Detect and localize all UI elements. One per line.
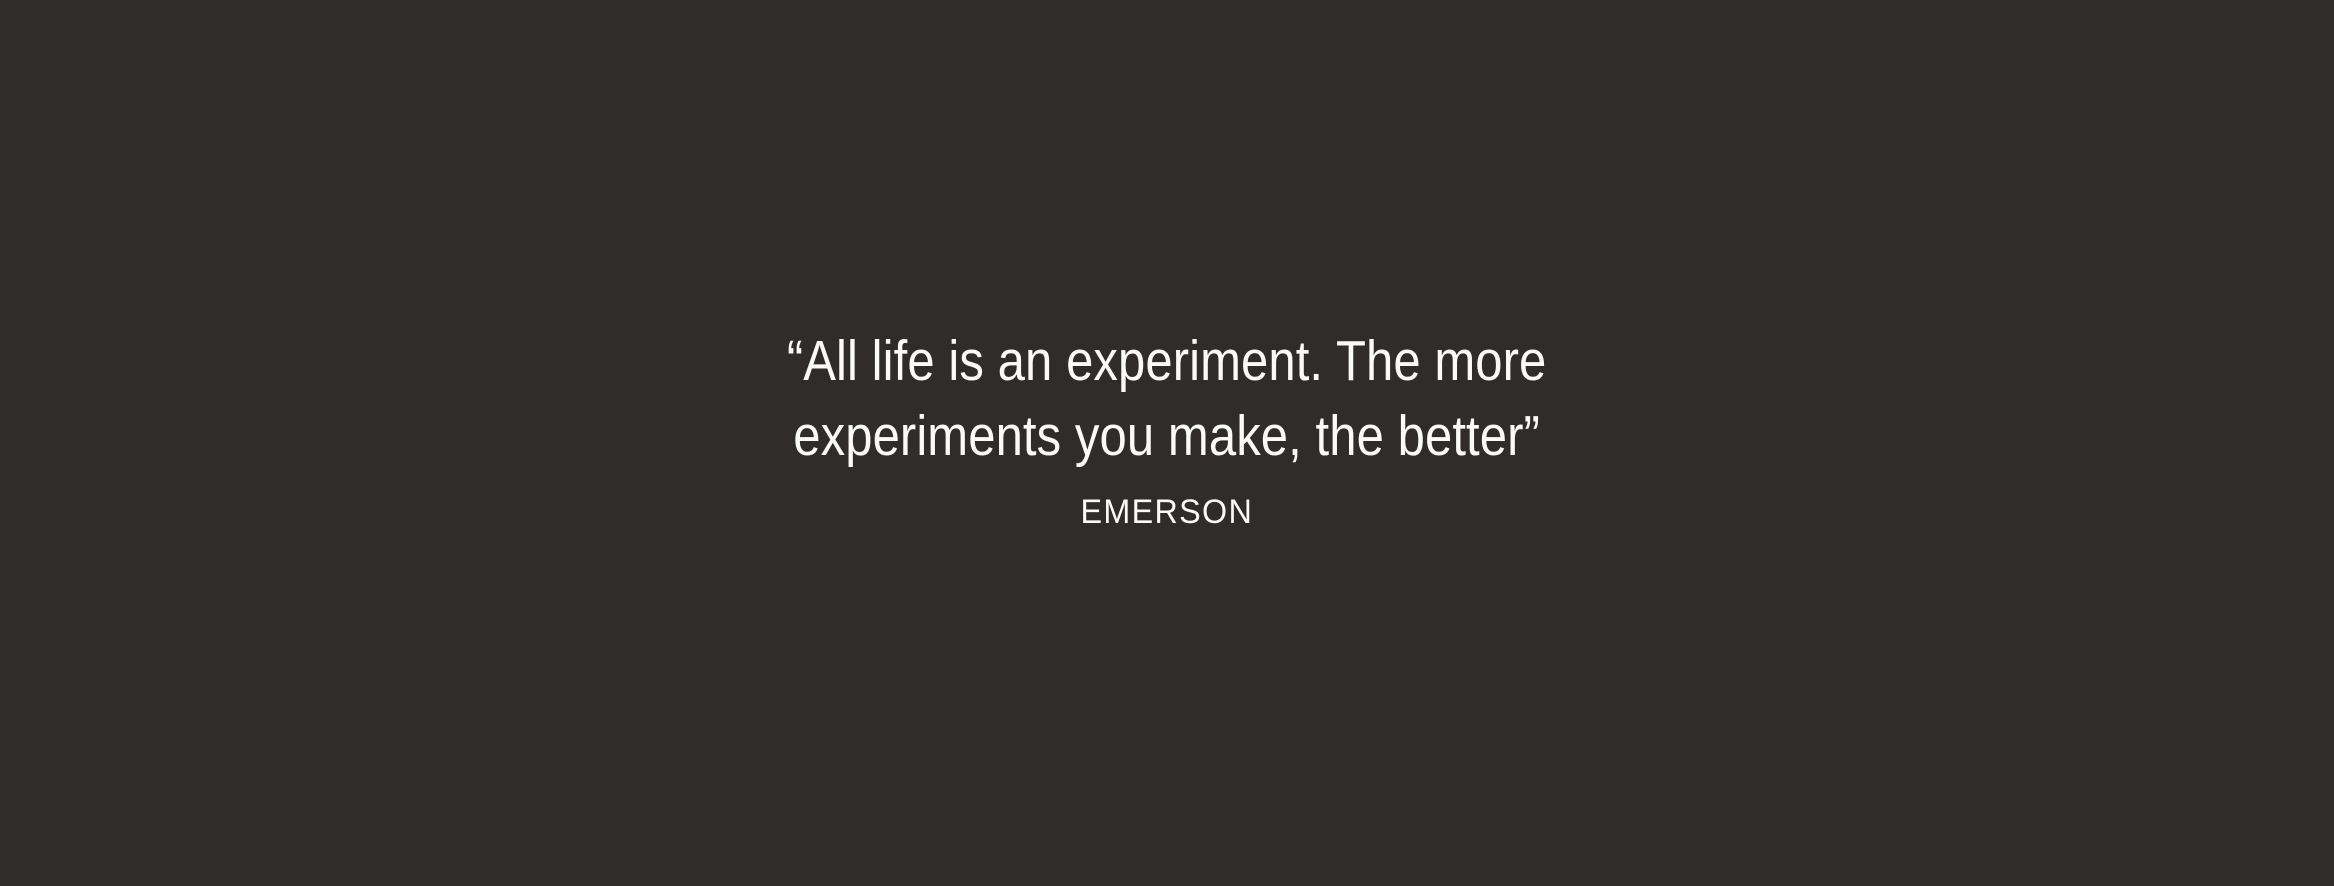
- quote-block: “All life is an experiment. The more exp…: [567, 324, 1767, 534]
- quote-line-1: “All life is an experiment. The more: [787, 324, 1547, 399]
- quote-line-2: experiments you make, the better”: [787, 399, 1547, 474]
- quote-attribution: EMERSON: [1081, 490, 1254, 534]
- quote-text: “All life is an experiment. The more exp…: [787, 324, 1547, 474]
- quote-card-canvas: “All life is an experiment. The more exp…: [0, 0, 2334, 886]
